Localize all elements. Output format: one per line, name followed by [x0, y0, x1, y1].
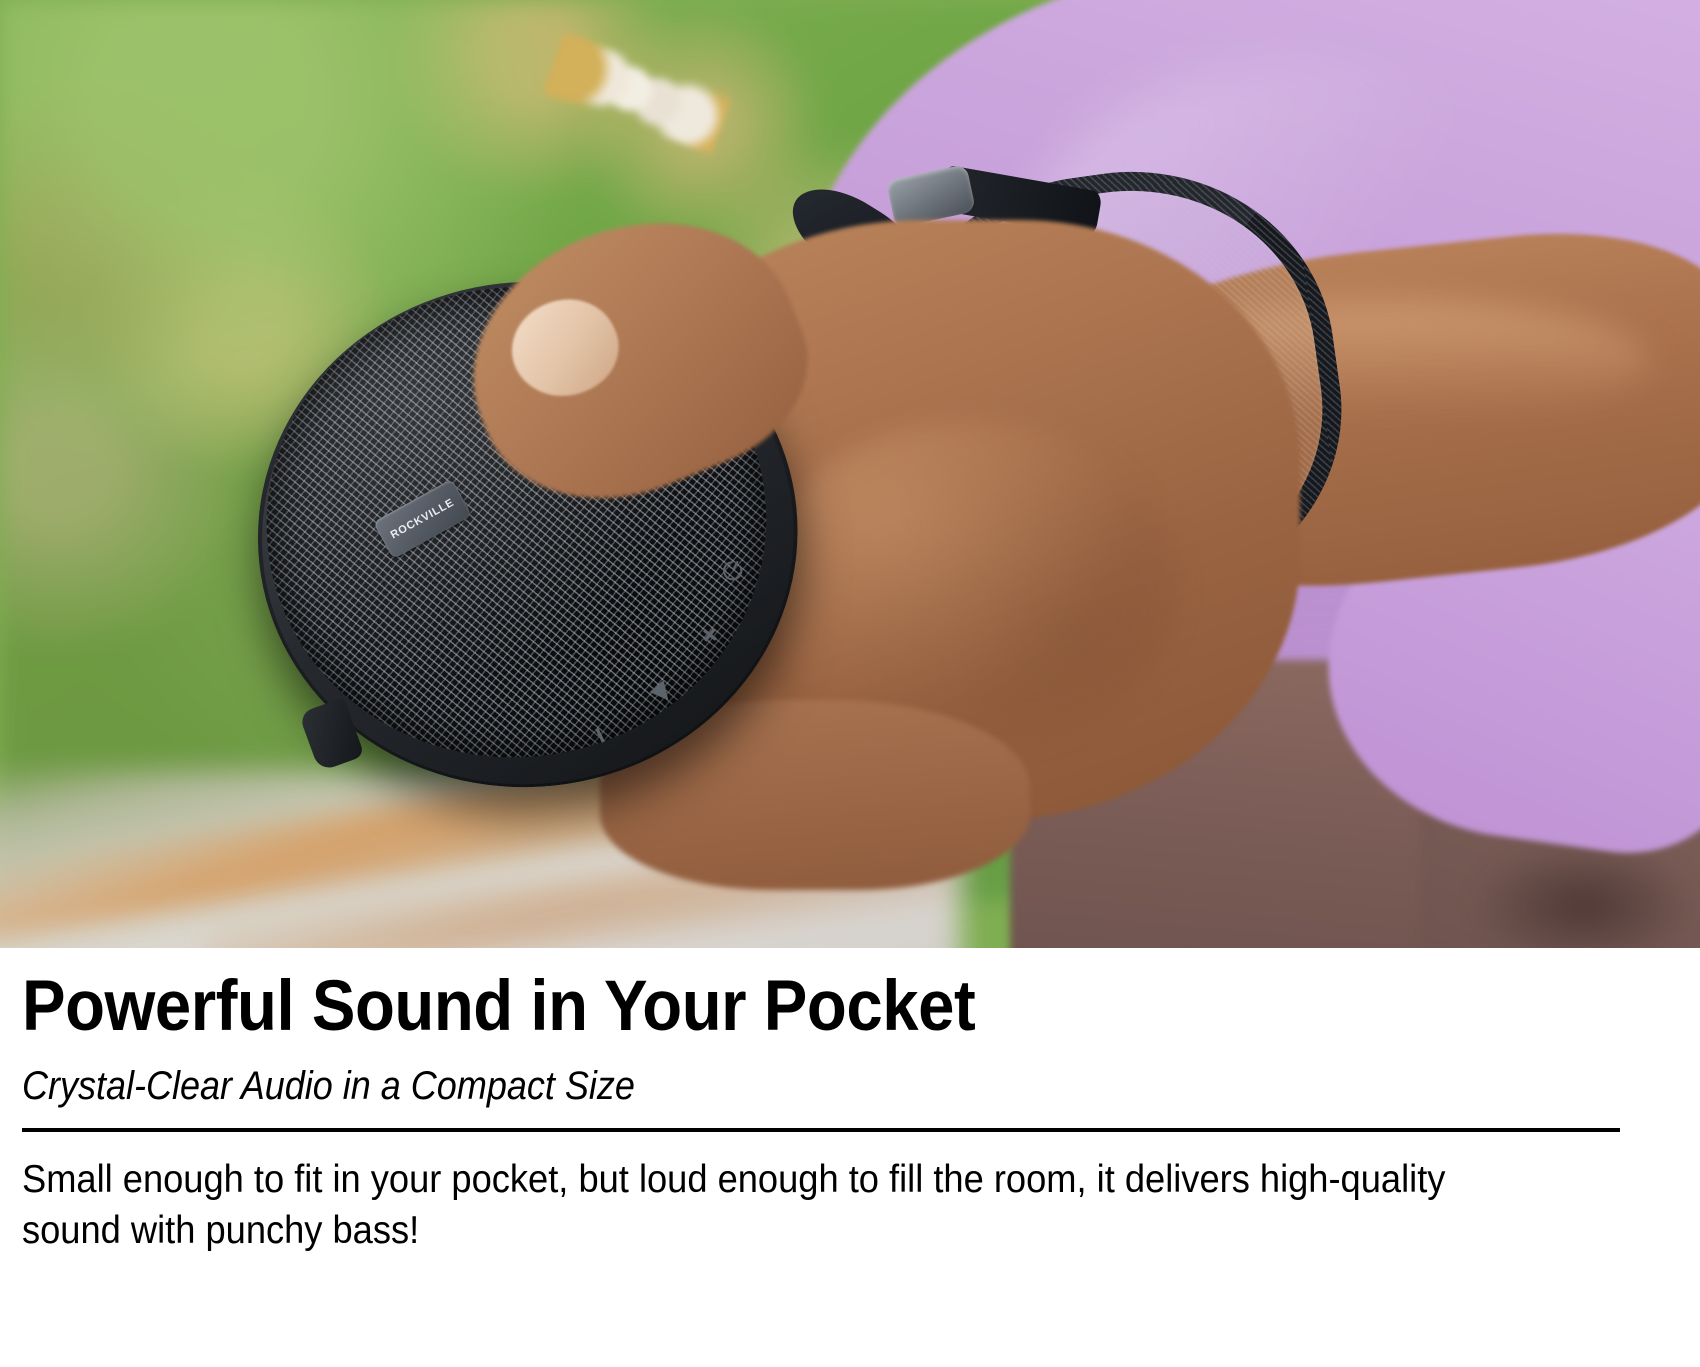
body-paragraph: Small enough to fit in your pocket, but … — [22, 1154, 1529, 1257]
headline: Powerful Sound in Your Pocket — [22, 966, 975, 1047]
subheadline: Crystal-Clear Audio in a Compact Size — [22, 1064, 635, 1109]
product-feature-card: ROCKVILLE ⏻ + ▶ − Powerful Sound in Your… — [0, 0, 1700, 1367]
divider-rule — [22, 1128, 1620, 1132]
product-hero-photo: ROCKVILLE ⏻ + ▶ − — [0, 0, 1700, 948]
caption-block: Powerful Sound in Your Pocket Crystal-Cl… — [0, 948, 1700, 1367]
pants-shadow — [1470, 840, 1700, 948]
